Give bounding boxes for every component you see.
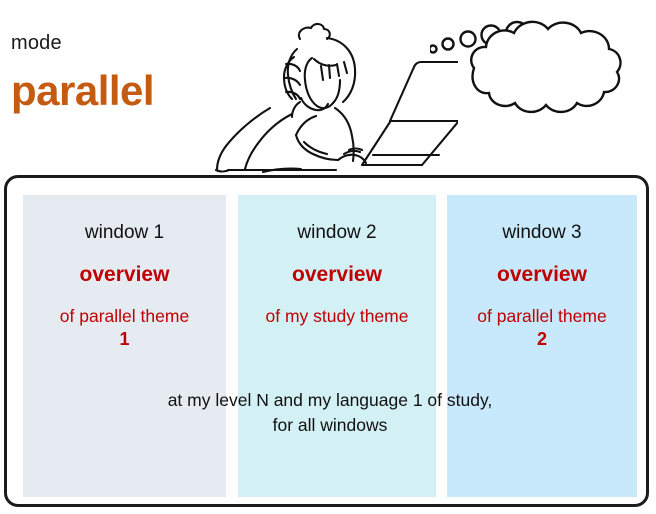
person-studying-at-laptop-illustration [208,2,458,175]
window-panel-3[interactable]: window 3 overview of parallel theme 2 [447,195,637,497]
window-3-heading: overview [447,264,637,285]
window-1-heading: overview [23,264,226,285]
window-3-subtitle: of parallel theme [447,305,637,328]
mode-label: mode [11,33,62,53]
window-1-number: 1 [23,328,226,351]
window-1-subtitle: of parallel theme [23,305,226,328]
window-2-title: window 2 [238,223,436,242]
thought-bubble: I learn better by comparison [430,2,656,134]
thought-dot-3 [461,32,476,47]
header-area: mode parallel [0,0,656,175]
window-panel-2[interactable]: window 2 overview of my study theme [238,195,436,497]
window-3-title: window 3 [447,223,637,242]
mode-value: parallel [11,70,154,112]
thought-dot-1 [430,46,437,53]
window-3-number: 2 [447,328,637,351]
windows-container: window 1 overview of parallel theme 1 wi… [4,175,649,507]
thought-dot-2 [443,39,454,50]
window-panel-1[interactable]: window 1 overview of parallel theme 1 [23,195,226,497]
window-2-subtitle: of my study theme [238,305,436,328]
window-1-title: window 1 [23,223,226,242]
window-2-heading: overview [238,264,436,285]
